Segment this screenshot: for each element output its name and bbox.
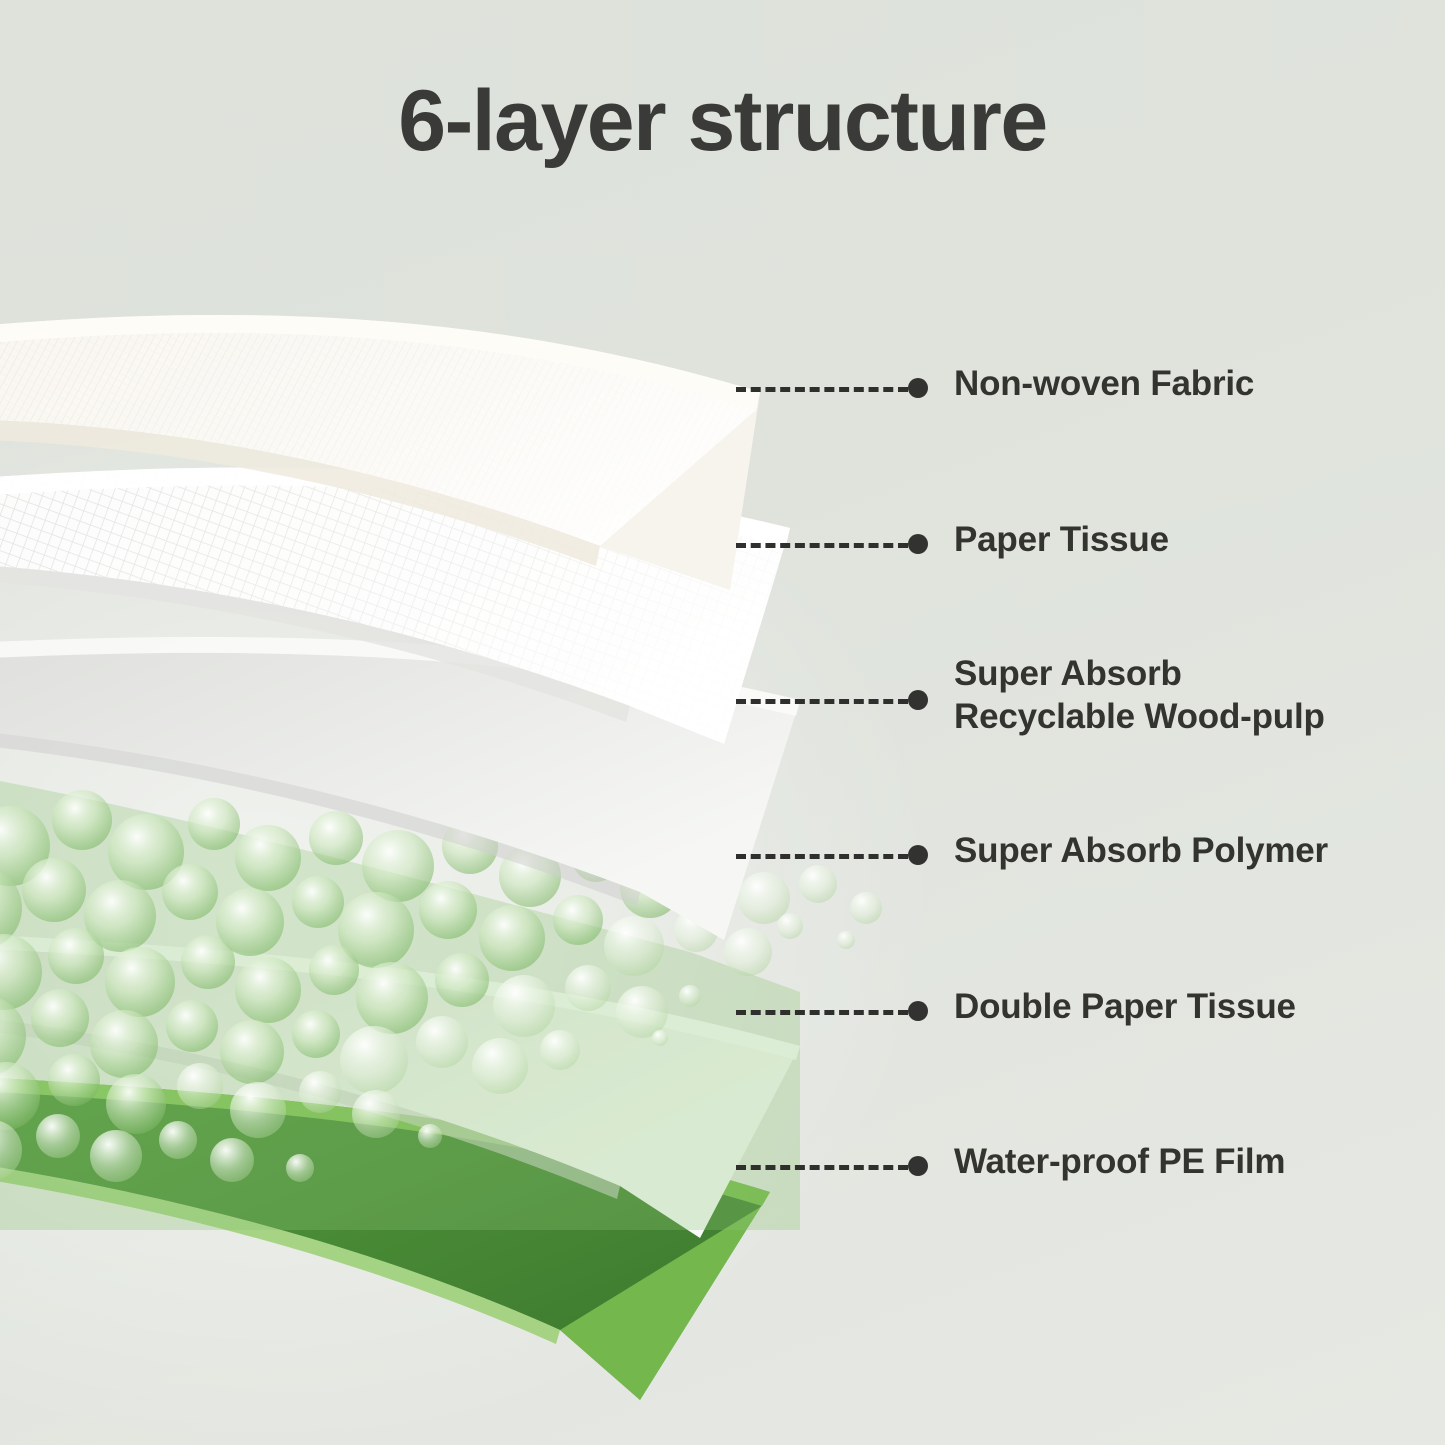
leader-line-paper-tissue (736, 543, 908, 548)
leader-dot-double-paper-tissue (908, 1001, 928, 1021)
leader-dot-non-woven-fabric (908, 378, 928, 398)
leader-line-wood-pulp (736, 699, 908, 704)
leader-line-double-paper-tissue (736, 1010, 908, 1015)
layer-label-super-absorb-polymer: Super Absorb Polymer (954, 830, 1328, 873)
leader-line-pe-film (736, 1165, 908, 1170)
layer-label-pe-film: Water-proof PE Film (954, 1141, 1285, 1184)
leader-dot-pe-film (908, 1156, 928, 1176)
leader-line-non-woven-fabric (736, 387, 908, 392)
leader-dot-wood-pulp (908, 690, 928, 710)
infographic-canvas: 6-layer structure (0, 0, 1445, 1445)
layer-label-wood-pulp-line2: Recyclable Wood-pulp (954, 696, 1325, 739)
layer-label-wood-pulp-line1: Super Absorb (954, 653, 1182, 696)
layer-label-paper-tissue: Paper Tissue (954, 519, 1169, 562)
layer-label-non-woven-fabric: Non-woven Fabric (954, 363, 1254, 406)
leader-line-super-absorb-polymer (736, 854, 908, 859)
leader-dot-super-absorb-polymer (908, 845, 928, 865)
layer-label-double-paper-tissue: Double Paper Tissue (954, 986, 1296, 1029)
leader-dot-paper-tissue (908, 534, 928, 554)
